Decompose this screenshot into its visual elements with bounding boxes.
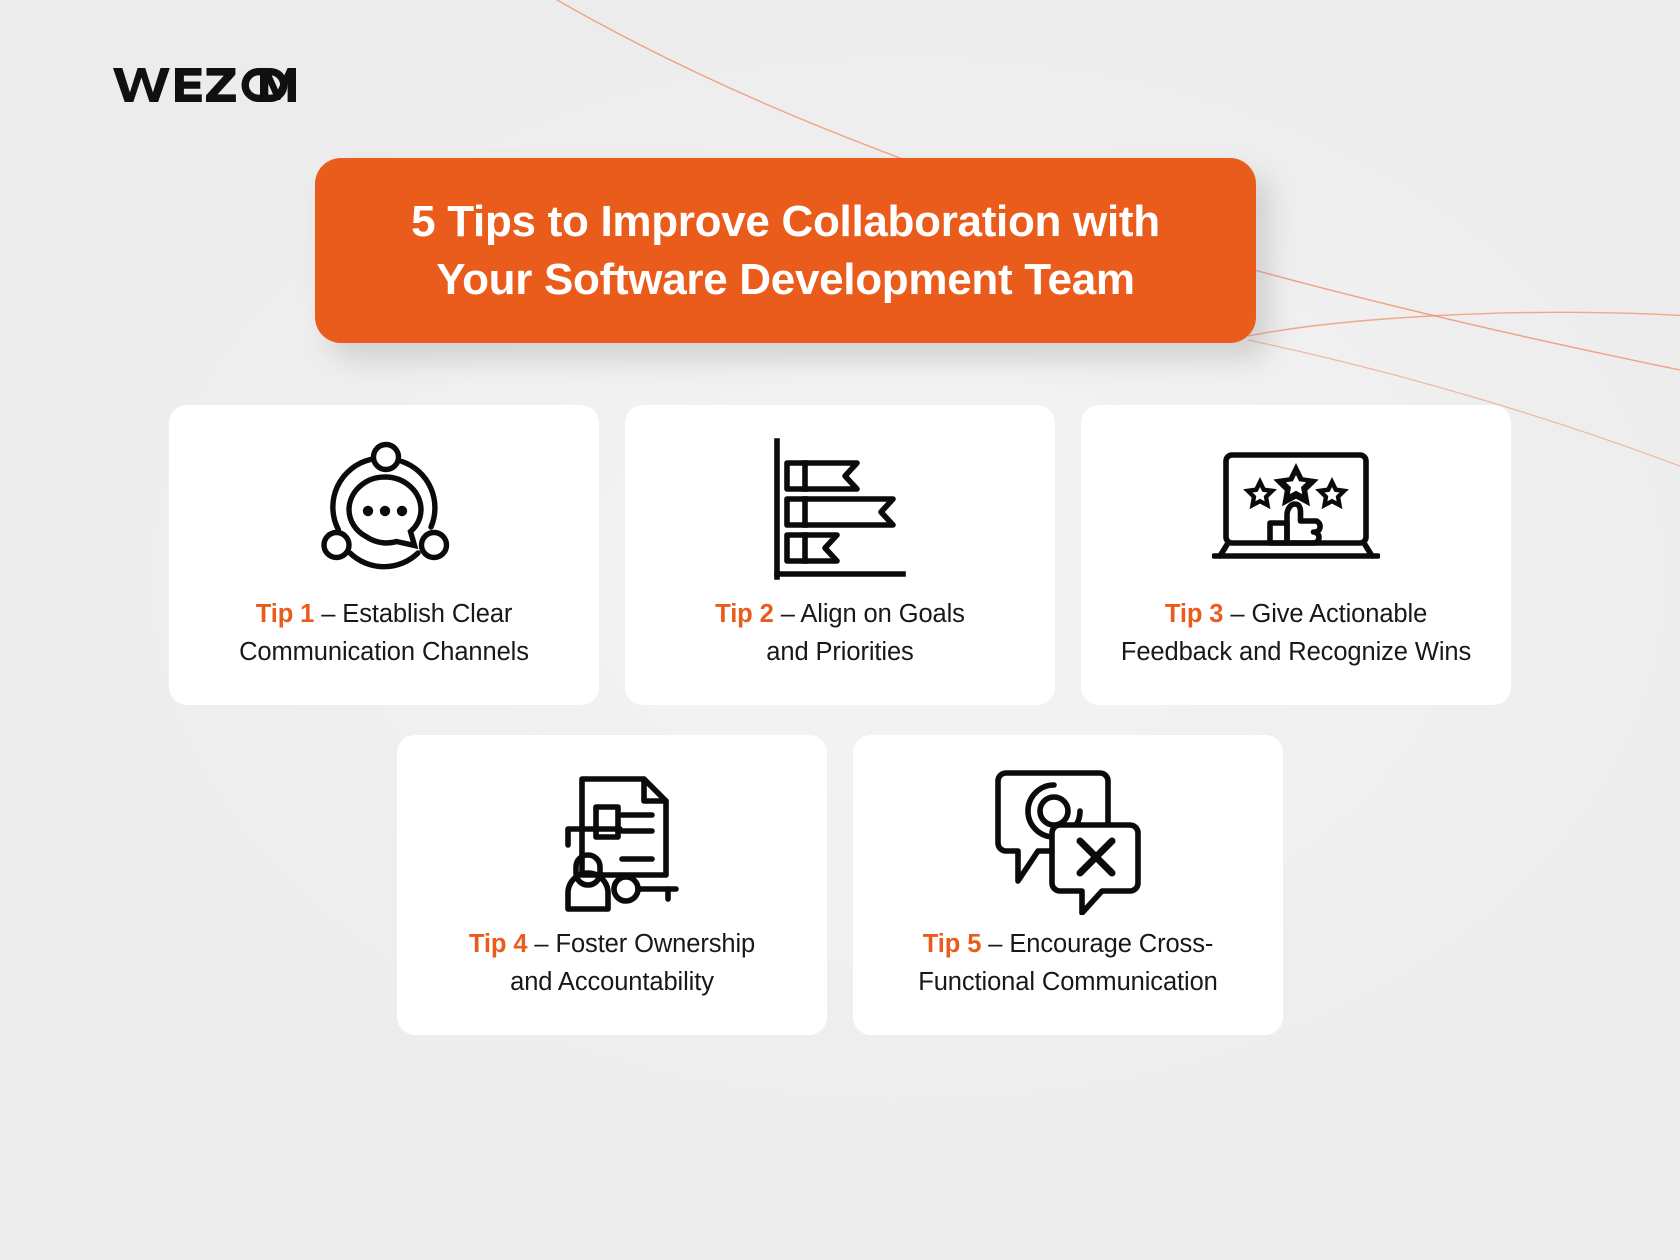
tip-card-5-text: Tip 5 – Encourage Cross- Functional Comm…: [918, 925, 1218, 1002]
title-banner: 5 Tips to Improve Collaboration with You…: [315, 158, 1256, 343]
tip-card-3-body-line-2: Feedback and Recognize Wins: [1121, 638, 1471, 666]
page-title: 5 Tips to Improve Collaboration with You…: [411, 193, 1160, 307]
tip-card-2-text: Tip 2 – Align on Goals and Priorities: [715, 595, 965, 672]
tip-card-2-body-line-2: and Priorities: [766, 638, 913, 666]
tip-card-4-body-line-1: Foster Ownership: [555, 930, 755, 958]
tip-card-2-label: Tip 2: [715, 600, 774, 628]
tip-card-5-label: Tip 5: [923, 930, 982, 958]
tips-row-top: Tip 1 – Establish Clear Communication Ch…: [113, 405, 1567, 705]
laptop-stars-thumbsup-icon: [1212, 429, 1380, 589]
tip-card-1[interactable]: Tip 1 – Establish Clear Communication Ch…: [169, 405, 599, 705]
tip-card-3-separator: –: [1223, 600, 1251, 628]
tip-card-2-separator: –: [774, 600, 801, 628]
tip-card-1-text: Tip 1 – Establish Clear Communication Ch…: [239, 595, 529, 672]
tip-card-5[interactable]: Tip 5 – Encourage Cross- Functional Comm…: [853, 735, 1283, 1035]
chat-bubble-network-icon: [314, 429, 454, 589]
tip-card-4-label: Tip 4: [469, 930, 528, 958]
tip-card-4[interactable]: Tip 4 – Foster Ownership and Accountabil…: [397, 735, 827, 1035]
tip-card-1-body-line-1: Establish Clear: [342, 600, 512, 628]
tip-card-4-body-line-2: and Accountability: [510, 968, 714, 996]
tip-card-3-text: Tip 3 – Give Actionable Feedback and Rec…: [1121, 595, 1471, 672]
bar-chart-flags-icon: [765, 429, 915, 589]
tips-row-bottom: Tip 4 – Foster Ownership and Accountabil…: [113, 735, 1567, 1035]
wezom-logo[interactable]: [113, 66, 296, 104]
tip-card-5-body-line-1: Encourage Cross-: [1009, 930, 1213, 958]
tip-card-5-separator: –: [981, 930, 1009, 958]
page-title-line-2: Your Software Development Team: [436, 255, 1134, 304]
tip-card-5-body-line-2: Functional Communication: [918, 968, 1218, 996]
tip-card-1-body-line-2: Communication Channels: [239, 638, 529, 666]
tip-card-3[interactable]: Tip 3 – Give Actionable Feedback and Rec…: [1081, 405, 1511, 705]
tip-card-4-text: Tip 4 – Foster Ownership and Accountabil…: [469, 925, 755, 1002]
page-title-line-1: 5 Tips to Improve Collaboration with: [411, 197, 1160, 246]
tip-card-1-separator: –: [314, 600, 342, 628]
tip-card-2[interactable]: Tip 2 – Align on Goals and Priorities: [625, 405, 1055, 705]
tip-card-3-body-line-1: Give Actionable: [1251, 600, 1427, 628]
infographic-canvas: 5 Tips to Improve Collaboration with You…: [0, 0, 1680, 1260]
tip-card-3-label: Tip 3: [1165, 600, 1224, 628]
document-person-key-icon: [534, 759, 690, 919]
two-speech-bubbles-icon: [992, 759, 1144, 919]
tip-card-4-separator: –: [527, 930, 555, 958]
tip-card-1-label: Tip 1: [256, 600, 315, 628]
tip-card-2-body-line-1: Align on Goals: [800, 600, 964, 628]
